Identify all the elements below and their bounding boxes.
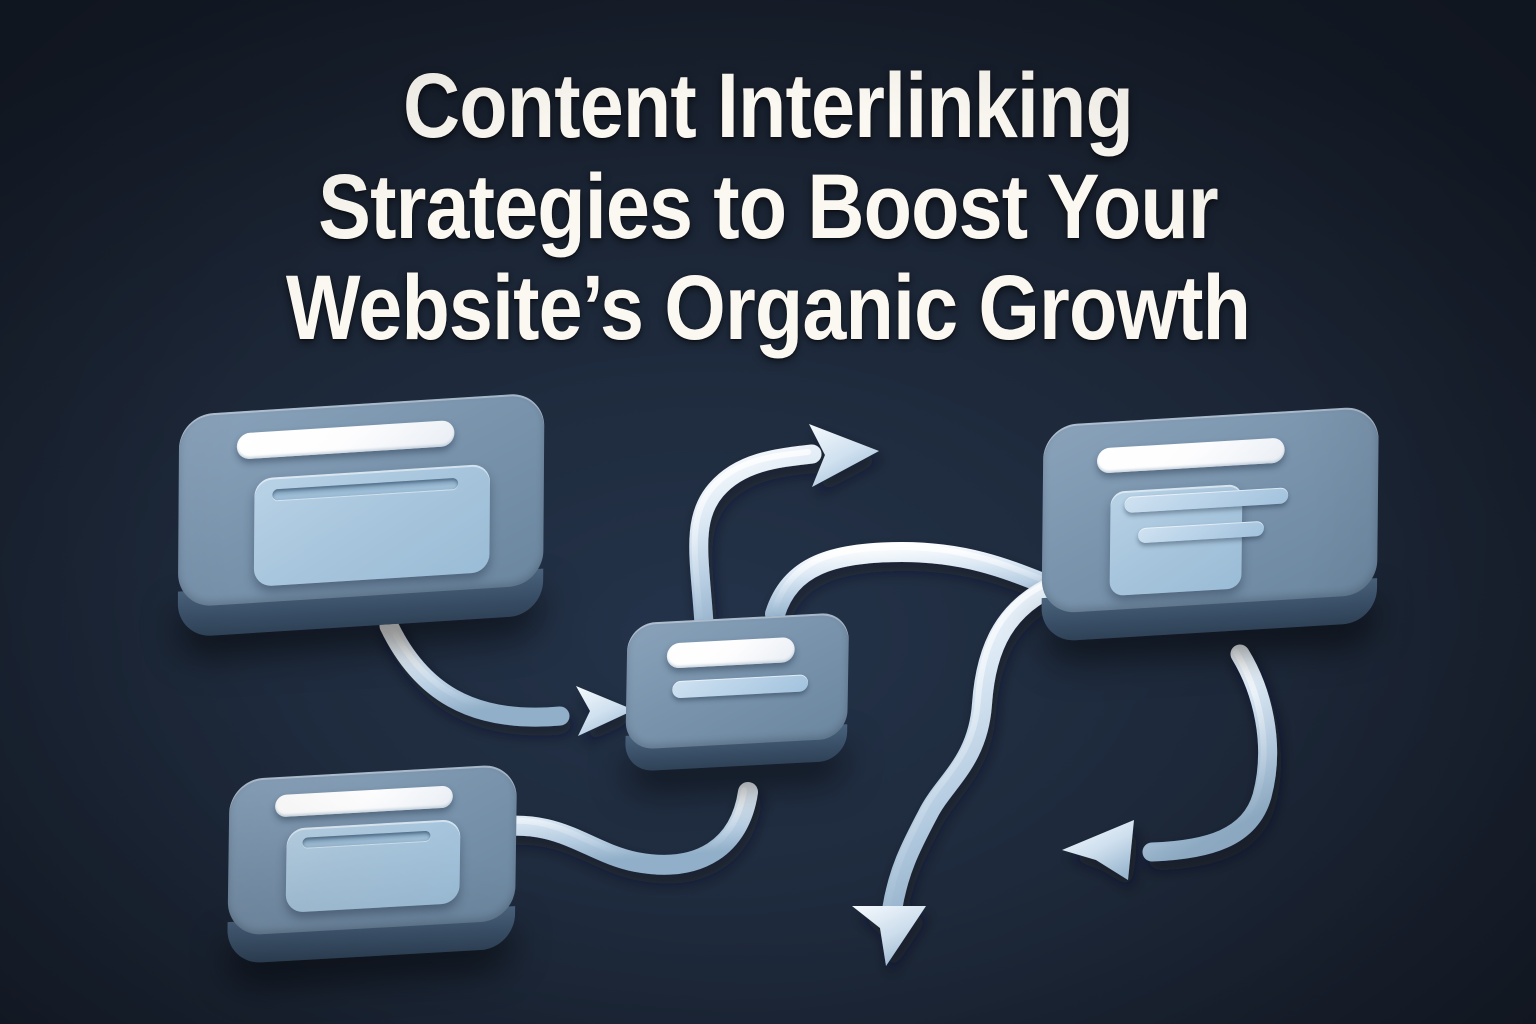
connector-bottomleft-to-center bbox=[488, 790, 748, 865]
connector-right-to-down bbox=[852, 580, 1058, 966]
cluster-page-card-right[interactable] bbox=[1041, 406, 1379, 656]
connector-right-to-left bbox=[1062, 652, 1268, 880]
card-content-panel bbox=[254, 464, 490, 587]
card-title-bar bbox=[1097, 437, 1285, 473]
card-face bbox=[625, 612, 849, 750]
card-title-bar bbox=[667, 637, 795, 669]
hub-page-card-center[interactable] bbox=[625, 612, 849, 782]
supporting-page-card-bottom-left[interactable] bbox=[227, 764, 517, 977]
card-face bbox=[227, 764, 517, 936]
card-face bbox=[1042, 406, 1379, 614]
pillar-page-card-top-left[interactable] bbox=[178, 392, 545, 654]
card-face bbox=[178, 392, 545, 607]
card-content-panel bbox=[286, 819, 461, 913]
hero-banner: Content Interlinking Strategies to Boost… bbox=[0, 0, 1536, 1024]
card-title-bar bbox=[275, 785, 453, 817]
card-content-bar bbox=[672, 674, 808, 698]
card-title-bar bbox=[237, 420, 455, 460]
card-content-slot bbox=[302, 831, 430, 848]
connector-topleft-to-center bbox=[389, 622, 634, 736]
card-content-slot bbox=[272, 478, 458, 501]
